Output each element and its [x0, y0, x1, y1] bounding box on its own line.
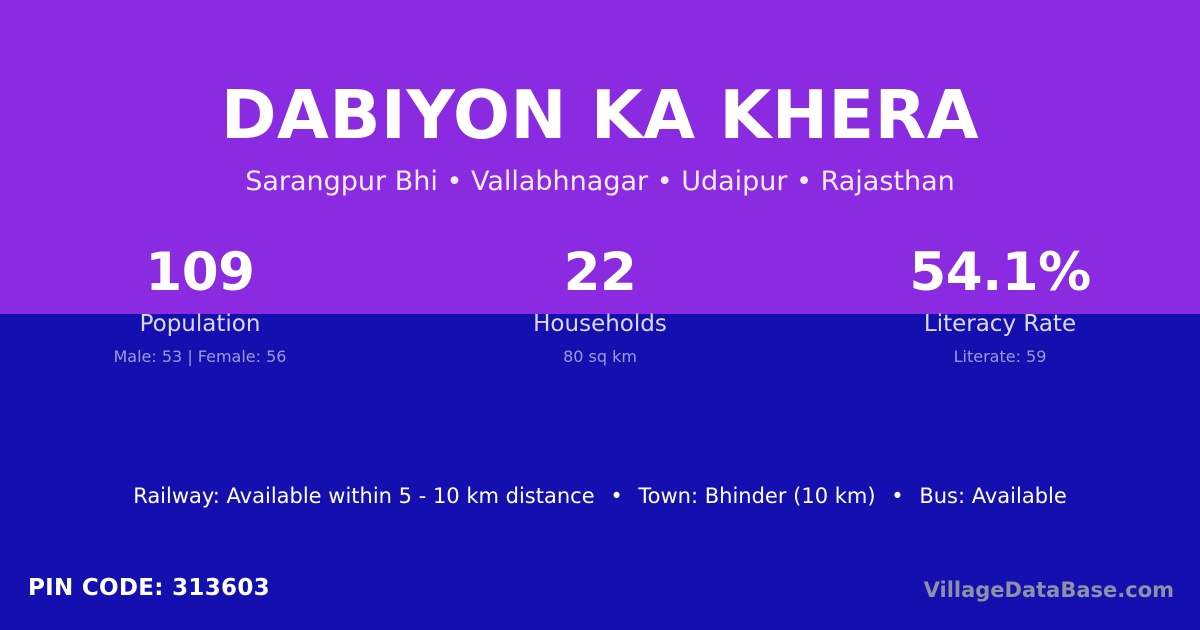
amenity-separator-1: • — [601, 486, 631, 507]
amenity-separator-2: • — [882, 486, 912, 507]
stat-card-literacy: 54.1% Literacy Rate Literate: 59 — [800, 246, 1200, 365]
amenities-line: Railway: Available within 5 - 10 km dist… — [0, 486, 1200, 507]
stat-sub-literacy: Literate: 59 — [800, 349, 1200, 365]
stat-sub-households: 80 sq km — [400, 349, 800, 365]
stat-card-households: 22 Households 80 sq km — [400, 246, 800, 365]
stat-label-households: Households — [400, 313, 800, 336]
pin-code-label: PIN CODE: 313603 — [28, 577, 270, 600]
stat-card-population: 109 Population Male: 53 | Female: 56 — [0, 246, 400, 365]
stat-value-literacy: 54.1% — [800, 246, 1200, 304]
amenity-bus: Bus: Available — [919, 484, 1066, 508]
site-brand-watermark: VillageDataBase.com — [924, 580, 1174, 601]
stats-row: 109 Population Male: 53 | Female: 56 22 … — [0, 246, 1200, 365]
stat-label-population: Population — [0, 313, 400, 336]
page-title: DABIYON KA KHERA — [0, 82, 1200, 149]
breadcrumb: Sarangpur Bhi • Vallabhnagar • Udaipur •… — [0, 168, 1200, 195]
stat-value-households: 22 — [400, 246, 800, 304]
amenity-town: Town: Bhinder (10 km) — [638, 484, 875, 508]
stat-sub-population: Male: 53 | Female: 56 — [0, 349, 400, 365]
stat-value-population: 109 — [0, 246, 400, 304]
amenity-railway: Railway: Available within 5 - 10 km dist… — [133, 484, 594, 508]
header-section: DABIYON KA KHERA Sarangpur Bhi • Vallabh… — [0, 0, 1200, 195]
stat-label-literacy: Literacy Rate — [800, 313, 1200, 336]
